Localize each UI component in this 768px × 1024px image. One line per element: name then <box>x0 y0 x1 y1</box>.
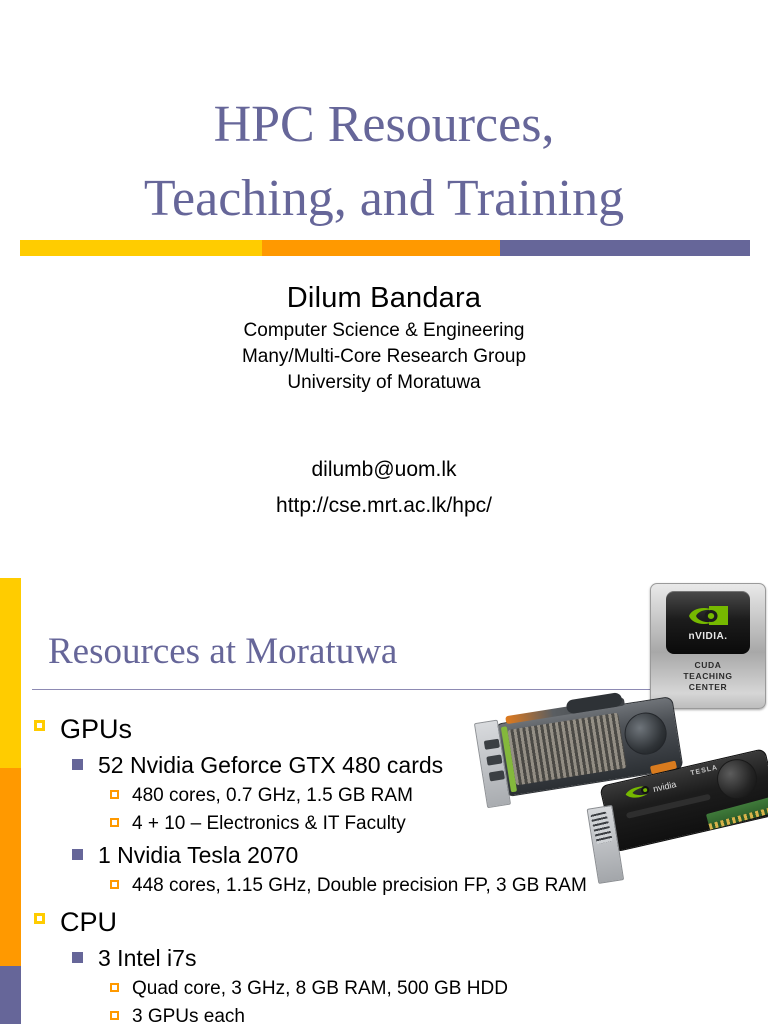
heading-underline <box>32 689 652 690</box>
list-item: 3 GPUs each <box>110 1003 728 1024</box>
list-item-label: Quad core, 3 GHz, 8 GB RAM, 500 GB HDD <box>132 975 508 1002</box>
title-slide: HPC Resources, Teaching, and Training Di… <box>0 0 768 578</box>
list-item-label: 1 Nvidia Tesla 2070 <box>98 839 298 871</box>
divider-segment-yellow <box>20 240 262 256</box>
contact-block: dilumb@uom.lk http://cse.mrt.ac.lk/hpc/ <box>0 452 768 524</box>
gpu-dvi-port <box>486 754 502 765</box>
deck-title: HPC Resources, Teaching, and Training <box>0 88 768 236</box>
list-item-label: 480 cores, 0.7 GHz, 1.5 GB RAM <box>132 782 413 809</box>
slide-deck-page: HPC Resources, Teaching, and Training Di… <box>0 0 768 1024</box>
bullet-square-icon <box>110 1003 132 1020</box>
author-name: Dilum Bandara <box>0 278 768 318</box>
divider-segment-orange <box>262 240 500 256</box>
contact-website-url[interactable]: http://cse.mrt.ac.lk/hpc/ <box>0 488 768 524</box>
bullet-square-icon <box>110 872 132 889</box>
author-affiliation-department: Computer Science & Engineering <box>0 318 768 344</box>
list-item-label: 4 + 10 – Electronics & IT Faculty <box>132 810 406 837</box>
bullet-square-icon <box>34 711 60 731</box>
rail-segment-orange <box>0 768 21 966</box>
slide-side-rail <box>0 578 21 1024</box>
list-item: CPU <box>34 904 728 940</box>
title-divider-bar <box>20 240 750 256</box>
list-item-label: 3 GPUs each <box>132 1003 245 1024</box>
slide-heading: Resources at Moratuwa <box>48 630 397 674</box>
bullet-square-icon <box>34 904 60 924</box>
list-item-label: GPUs <box>60 711 132 747</box>
bullet-square-icon <box>110 782 132 799</box>
list-item: 3 Intel i7s <box>72 942 728 974</box>
list-item: Quad core, 3 GHz, 8 GB RAM, 500 GB HDD <box>110 975 728 1002</box>
gpu-dvi-port <box>489 770 505 781</box>
rail-segment-purple <box>0 966 21 1024</box>
nvidia-eye-icon <box>685 603 731 629</box>
gpu-dvi-port <box>484 739 500 750</box>
badge-caption-line-3: CENTER <box>683 682 732 693</box>
list-item-label: 3 Intel i7s <box>98 942 196 974</box>
list-item-label: 52 Nvidia Geforce GTX 480 cards <box>98 749 443 781</box>
badge-caption-line-1: CUDA <box>683 660 732 671</box>
contact-email[interactable]: dilumb@uom.lk <box>0 452 768 488</box>
nvidia-logo-tile: nVIDIA. <box>666 591 750 654</box>
bullet-square-icon <box>110 810 132 827</box>
bullet-square-icon <box>72 749 98 770</box>
author-block: Dilum Bandara Computer Science & Enginee… <box>0 278 768 396</box>
list-item-label: CPU <box>60 904 117 940</box>
bullet-square-icon <box>110 975 132 992</box>
author-affiliation-group: Many/Multi-Core Research Group <box>0 344 768 370</box>
author-affiliation-university: University of Moratuwa <box>0 370 768 396</box>
divider-segment-purple <box>500 240 750 256</box>
bullet-square-icon <box>72 942 98 963</box>
deck-title-line-1: HPC Resources, <box>214 96 555 153</box>
cuda-badge-caption: CUDA TEACHING CENTER <box>683 660 732 693</box>
rail-segment-yellow <box>0 578 21 768</box>
badge-caption-line-2: TEACHING <box>683 671 732 682</box>
deck-title-line-2: Teaching, and Training <box>0 162 768 236</box>
bullet-square-icon <box>72 839 98 860</box>
nvidia-wordmark: nVIDIA. <box>688 631 727 642</box>
list-item-label: 448 cores, 1.15 GHz, Double precision FP… <box>132 872 587 899</box>
